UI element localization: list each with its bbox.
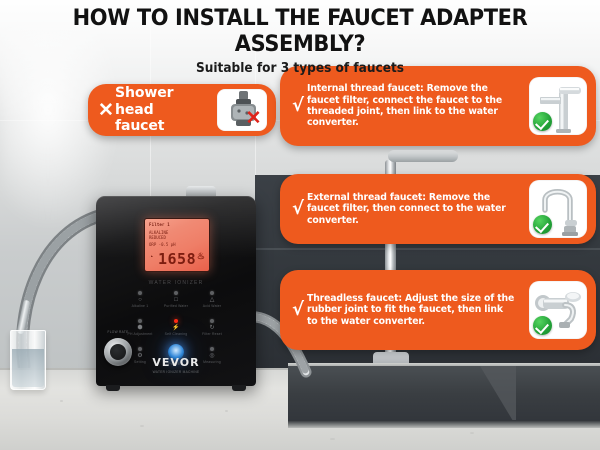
lcd-mode-label: ALKALINE REDUCED [149, 230, 168, 240]
button-glyph-icon: ↻ [194, 325, 230, 332]
lcd-orp-value: -0.5 pH [159, 242, 176, 247]
counter-speck [60, 400, 63, 402]
thumbnail-shower-head: ✕ [217, 89, 267, 131]
button-label: Purified Water [158, 304, 194, 308]
check-icon: √ [289, 301, 307, 319]
counter-speck [470, 432, 474, 434]
sink-corner-shadow [480, 366, 516, 426]
flow-knob-label: FLOW RATE [100, 330, 136, 334]
lcd-orp-row: ORP -0.5 pH [149, 242, 176, 247]
callout-threadless-faucet[interactable]: √ Threadless faucet: Adjust the size of … [280, 270, 596, 350]
water-ionizer-device: Filter 1 ALKALINE REDUCED ORP -0.5 pH ◔ … [96, 196, 256, 386]
green-check-badge [533, 316, 552, 335]
led-indicator [210, 347, 214, 351]
water-glass [10, 330, 46, 390]
cross-icon: ✕ [97, 101, 115, 120]
button-label: Alkaline 1 [122, 304, 158, 308]
brand-subtitle: WATER IONIZER MACHINE [96, 370, 256, 374]
button-glyph-icon: △ [194, 297, 230, 304]
control-button-filter-reset[interactable]: ↻ Filter Reset [194, 319, 230, 336]
panel-title: WATER IONIZER [96, 280, 256, 286]
button-label: Filter Reset [194, 332, 230, 336]
callout-external-thread-faucet[interactable]: √ External thread faucet: Remove the fau… [280, 174, 596, 244]
led-indicator-active [174, 319, 178, 323]
lcd-main-value: 1658 [158, 250, 196, 268]
sink-front-edge [288, 420, 600, 428]
led-indicator [138, 291, 142, 295]
device-foot [106, 385, 120, 391]
lcd-filter-label: Filter 1 [149, 222, 170, 227]
lcd-mode-reduced: REDUCED [149, 235, 166, 240]
callout-text: External thread faucet: Remove the fauce… [307, 192, 516, 226]
lcd-left-icon: ◔ [149, 254, 153, 261]
brand-logo: VEVOR [96, 356, 256, 369]
button-glyph-icon: □ [158, 297, 194, 304]
lcd-orp-label: ORP [149, 242, 156, 247]
infographic-canvas: Filter 1 ALKALINE REDUCED ORP -0.5 pH ◔ … [0, 0, 600, 450]
counter-speck [330, 438, 335, 440]
page-subtitle: Suitable for 3 types of faucets [30, 60, 570, 76]
led-indicator [138, 319, 142, 323]
control-button-alkaline[interactable]: ○ Alkaline 1 [122, 291, 158, 308]
red-cross-badge: ✕ [245, 110, 262, 127]
counter-speck [140, 425, 144, 427]
button-label: Self Cleaning [158, 332, 194, 336]
device-foot [232, 385, 246, 391]
button-label: Acid Water [194, 304, 230, 308]
thumbnail-threadless-faucet [529, 281, 587, 339]
control-button-acid[interactable]: △ Acid Water [194, 291, 230, 308]
page-title: HOW TO INSTALL THE FAUCET ADAPTER ASSEMB… [21, 5, 579, 57]
control-button-self-cleaning[interactable]: ⚡ Self Cleaning [158, 319, 194, 336]
callout-text: Threadless faucet: Adjust the size of th… [307, 293, 516, 327]
check-icon: √ [289, 200, 307, 218]
green-check-badge [533, 112, 552, 131]
brand-block: VEVOR WATER IONIZER MACHINE [96, 356, 256, 374]
header-block: HOW TO INSTALL THE FAUCET ADAPTER ASSEMB… [0, 5, 600, 76]
check-icon: √ [289, 97, 307, 115]
counter-speck [225, 410, 228, 412]
led-indicator [210, 291, 214, 295]
callout-text: Internal thread faucet: Remove the fauce… [307, 83, 516, 129]
callout-internal-thread-faucet[interactable]: √ Internal thread faucet: Remove the fau… [280, 66, 596, 146]
button-glyph-icon: ⚡ [158, 325, 194, 332]
led-indicator [138, 347, 142, 351]
lcd-right-icon: ♨ [197, 251, 205, 262]
green-check-badge [533, 215, 552, 234]
led-indicator [174, 291, 178, 295]
callout-text: Shower head faucet [115, 85, 207, 135]
thumbnail-internal-thread-faucet [529, 77, 587, 135]
water-fill [12, 349, 44, 387]
background-faucet-spout [388, 150, 458, 162]
led-indicator [210, 319, 214, 323]
device-lcd-display: Filter 1 ALKALINE REDUCED ORP -0.5 pH ◔ … [144, 218, 210, 272]
button-glyph-icon: ○ [122, 297, 158, 304]
thumbnail-external-thread-faucet [529, 180, 587, 238]
control-button-purified[interactable]: □ Purified Water [158, 291, 194, 308]
callout-shower-head-faucet[interactable]: ✕ Shower head faucet ✕ [88, 84, 276, 136]
cabinet-seam [255, 248, 600, 250]
